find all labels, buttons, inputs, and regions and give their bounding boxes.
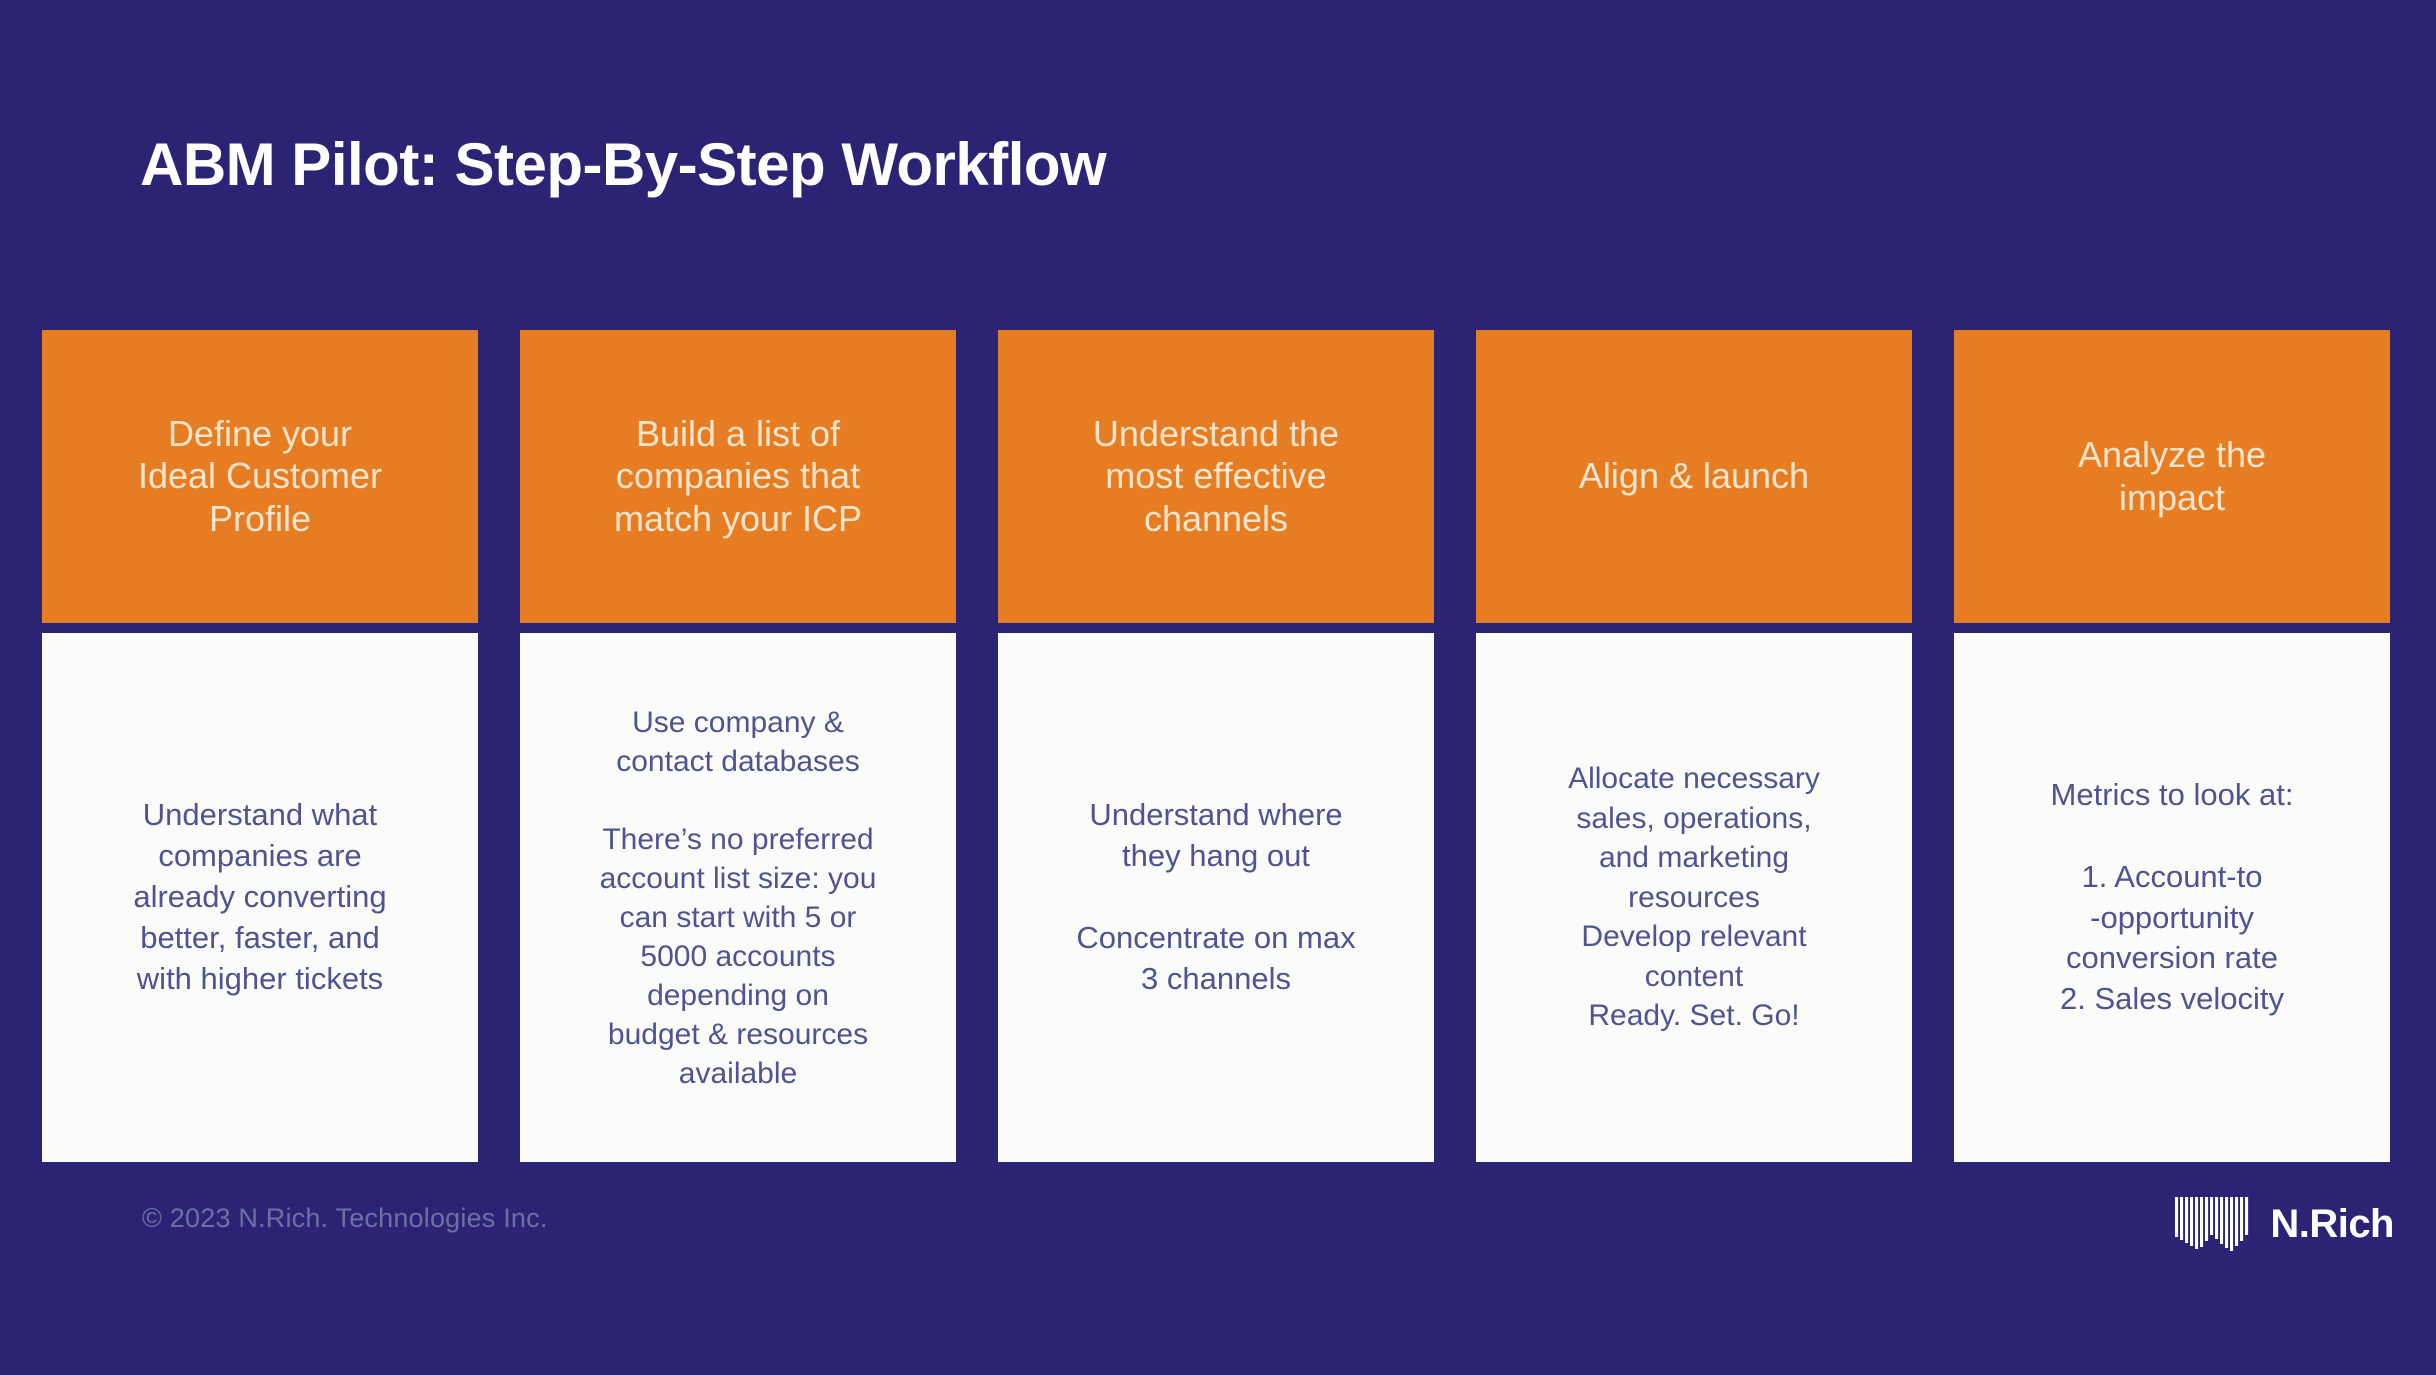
slide-footer: © 2023 N.Rich. Technologies Inc. [0,1195,2436,1275]
step-body-4: Allocate necessary sales, operations, an… [1476,633,1912,1162]
step-header-4: Align & launch [1476,330,1912,623]
copyright-notice: © 2023 N.Rich. Technologies Inc. [142,1203,548,1234]
step-body-label-2: Use company & contact databases There’s … [600,703,877,1093]
step-header-5: Analyze the impact [1954,330,2390,623]
page-title: ABM Pilot: Step-By-Step Workflow [140,130,1106,199]
step-header-label-1: Define your Ideal Customer Profile [138,413,382,540]
workflow-step-1: Define your Ideal Customer Profile Under… [42,330,478,1162]
workflow-step-4: Align & launch Allocate necessary sales,… [1476,330,1912,1162]
step-body-3: Understand where they hang out Concentra… [998,633,1434,1162]
step-body-label-3: Understand where they hang out Concentra… [1076,795,1355,1000]
step-header-2: Build a list of companies that match you… [520,330,956,623]
workflow-step-5: Analyze the impact Metrics to look at: 1… [1954,330,2390,1162]
workflow-columns: Define your Ideal Customer Profile Under… [42,330,2390,1162]
step-body-label-5: Metrics to look at: 1. Account-to -oppor… [2051,775,2294,1020]
brand-name-label: N.Rich [2270,1202,2394,1247]
step-body-2: Use company & contact databases There’s … [520,633,956,1162]
step-header-label-2: Build a list of companies that match you… [614,413,862,540]
step-divider-5 [1954,623,2390,633]
brand-logo: N.Rich [2174,1195,2394,1253]
step-header-label-5: Analyze the impact [2078,434,2266,519]
step-header-label-3: Understand the most effective channels [1093,413,1339,540]
step-header-3: Understand the most effective channels [998,330,1434,623]
step-divider-1 [42,623,478,633]
step-body-5: Metrics to look at: 1. Account-to -oppor… [1954,633,2390,1162]
step-divider-2 [520,623,956,633]
slide-canvas: ABM Pilot: Step-By-Step Workflow Define … [0,0,2436,1375]
step-divider-3 [998,623,1434,633]
step-header-label-4: Align & launch [1579,455,1809,497]
step-body-1: Understand what companies are already co… [42,633,478,1162]
nrich-bars-logo-icon [2174,1195,2254,1253]
step-divider-4 [1476,623,1912,633]
step-body-label-4: Allocate necessary sales, operations, an… [1568,759,1820,1036]
step-header-1: Define your Ideal Customer Profile [42,330,478,623]
workflow-step-2: Build a list of companies that match you… [520,330,956,1162]
workflow-step-3: Understand the most effective channels U… [998,330,1434,1162]
step-body-label-1: Understand what companies are already co… [133,795,386,1000]
